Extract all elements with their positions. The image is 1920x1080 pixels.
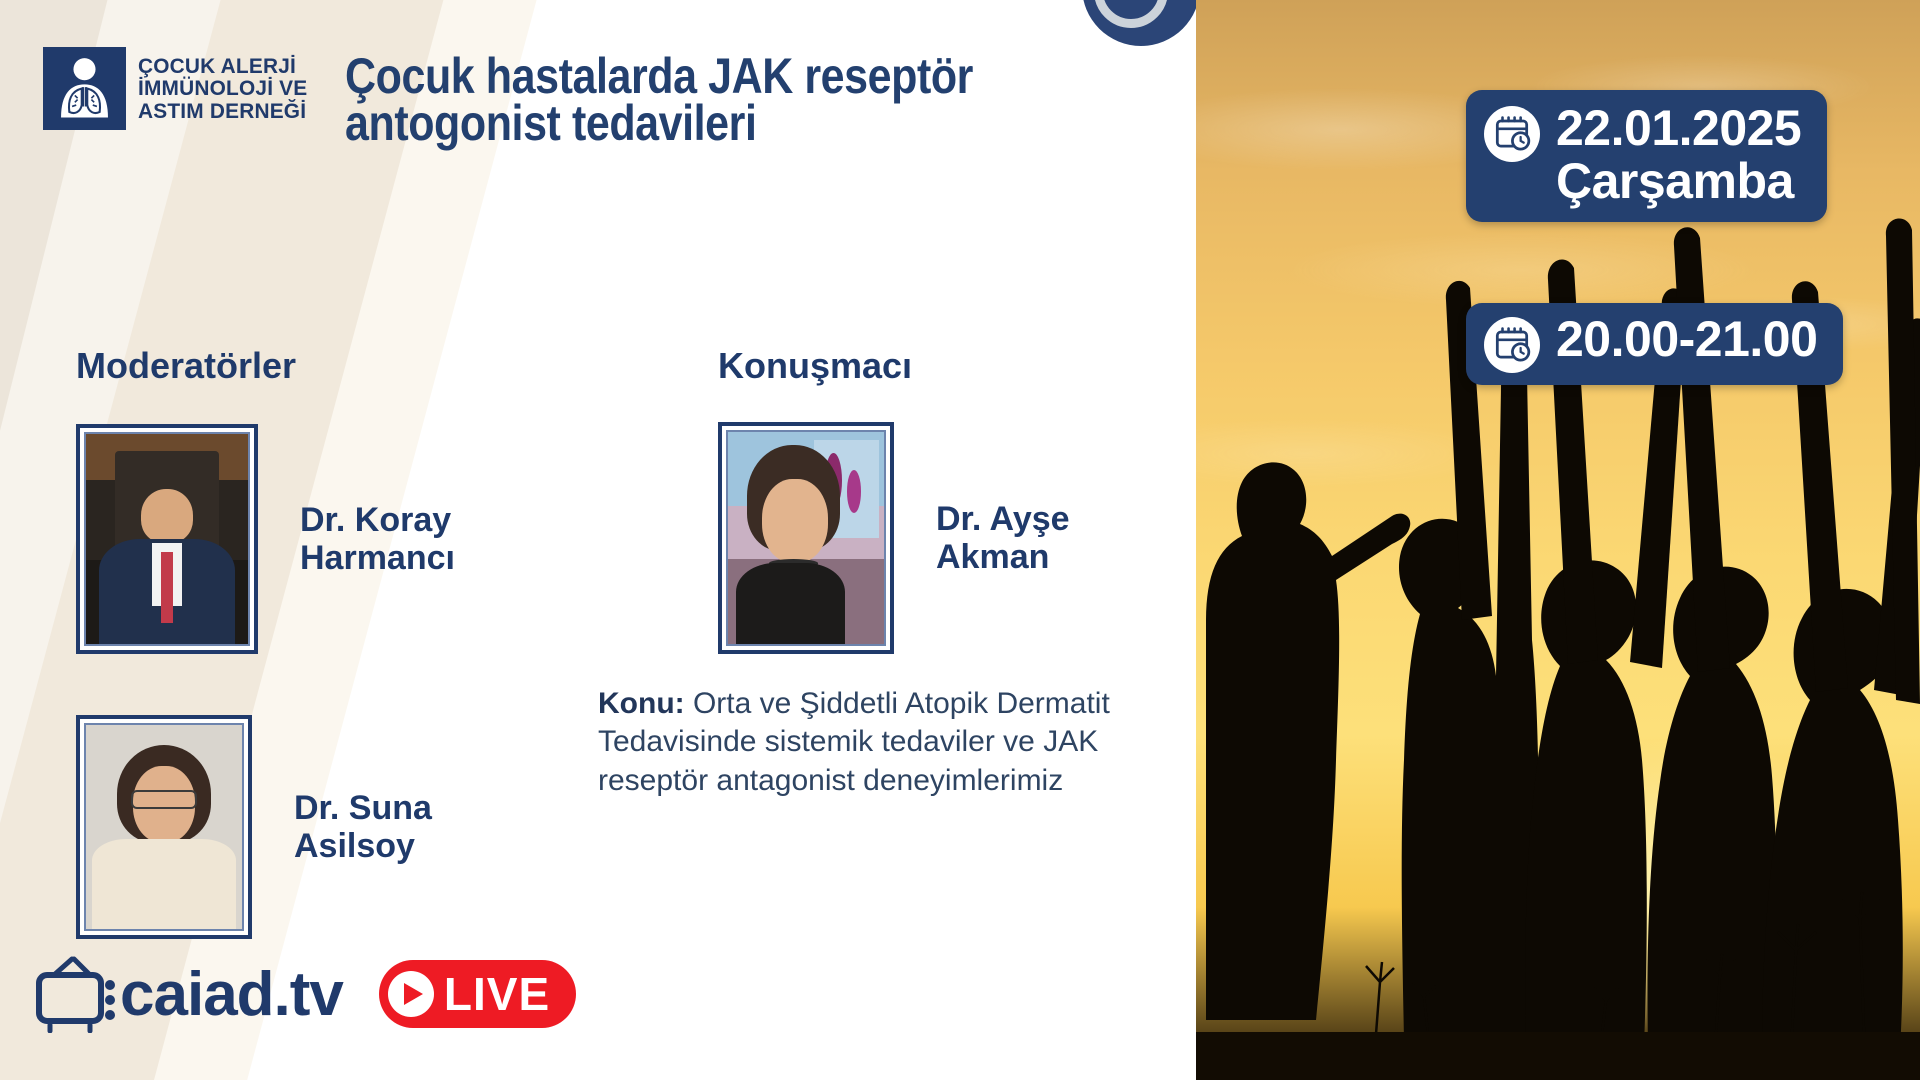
time-badge: 20.00-21.00 — [1466, 303, 1843, 385]
channel-name: caiad.tv — [120, 959, 343, 1030]
moderator-name: Dr. Koray Harmancı — [300, 501, 455, 577]
date-badge: 22.01.2025 Çarşamba — [1466, 90, 1827, 222]
calendar-clock-icon — [1484, 106, 1540, 162]
org-line-2: İMMÜNOLOJİ VE — [138, 77, 307, 99]
organization-logo: ÇOCUK ALERJİ İMMÜNOLOJİ VE ASTIM DERNEĞİ — [43, 47, 313, 130]
topic-label: Konu: — [598, 687, 685, 720]
organization-name: ÇOCUK ALERJİ İMMÜNOLOJİ VE ASTIM DERNEĞİ — [138, 55, 313, 121]
moderator-card-koray-harmanci: Dr. Koray Harmancı — [76, 424, 455, 654]
footer-bar: caiad.tv LIVE — [34, 955, 576, 1033]
lungs-torso-icon — [43, 47, 126, 130]
speaker-name: Dr. Ayşe Akman — [936, 500, 1070, 576]
live-badge[interactable]: LIVE — [379, 960, 576, 1028]
moderator-card-suna-asilsoy: Dr. Suna Asilsoy — [76, 715, 432, 939]
moderators-heading: Moderatörler — [76, 345, 296, 387]
moderator-name: Dr. Suna Asilsoy — [294, 789, 432, 865]
avatar — [76, 715, 252, 939]
avatar — [718, 422, 894, 654]
event-date: 22.01.2025 Çarşamba — [1556, 102, 1801, 208]
page-title: Çocuk hastalarda JAK reseptör antogonist… — [345, 53, 1042, 146]
live-label: LIVE — [444, 967, 550, 1021]
channel-logo[interactable]: caiad.tv — [34, 955, 343, 1033]
television-icon — [34, 955, 126, 1033]
play-icon — [388, 971, 434, 1017]
calendar-clock-icon — [1484, 317, 1540, 373]
org-line-1: ÇOCUK ALERJİ — [138, 55, 307, 77]
speaker-heading: Konuşmacı — [718, 345, 912, 387]
event-time: 20.00-21.00 — [1556, 313, 1817, 366]
webinar-poster: ÇOCUK ALERJİ İMMÜNOLOJİ VE ASTIM DERNEĞİ… — [0, 0, 1920, 1080]
topic-text: Konu: Orta ve Şiddetli Atopik Dermatit T… — [598, 685, 1198, 800]
org-line-3: ASTIM DERNEĞİ — [138, 100, 307, 122]
ground-strip — [1196, 1032, 1920, 1080]
avatar — [76, 424, 258, 654]
speaker-card-ayse-akman: Dr. Ayşe Akman — [718, 422, 1070, 654]
